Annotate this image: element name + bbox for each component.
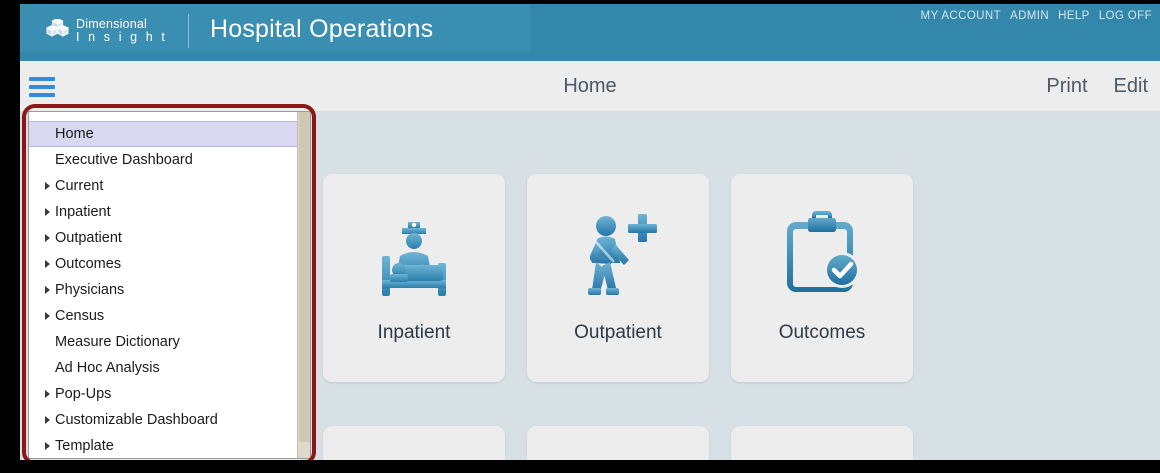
menu-item-outpatient[interactable]: Outpatient [29,225,299,251]
menu-item-label: Outpatient [55,230,122,246]
edit-button[interactable]: Edit [1114,61,1148,111]
tile-inpatient[interactable]: Inpatient [323,174,505,382]
print-button[interactable]: Print [1046,61,1087,111]
account-links: MY ACCOUNT ADMIN HELP LOG OFF [921,10,1152,22]
menu-item-list: Home Executive Dashboard Current Inpatie… [29,112,299,458]
walking-patient-with-sling-icon [527,196,709,316]
admin-link[interactable]: ADMIN [1010,10,1049,22]
tile-label: Outpatient [527,322,709,344]
my-account-link[interactable]: MY ACCOUNT [921,10,1001,22]
menu-item-executive-dashboard[interactable]: Executive Dashboard [29,147,299,173]
nav-actions: Print Edit [1046,61,1148,111]
chevron-right-icon [45,182,50,190]
tile-placeholder[interactable] [323,426,505,460]
tile-label: Inpatient [323,322,505,344]
chevron-right-icon [45,260,50,268]
chevron-right-icon [45,286,50,294]
brand-text: Dimensional I n s i g h t [76,18,167,44]
page-title: Home [20,61,1160,111]
header-divider [188,14,189,48]
menu-item-label: Measure Dictionary [55,334,180,350]
tile-outcomes[interactable]: Outcomes [731,174,913,382]
chevron-right-icon [45,312,50,320]
tile-placeholder[interactable] [527,426,709,460]
menu-item-ad-hoc-analysis[interactable]: Ad Hoc Analysis [29,355,299,381]
log-off-link[interactable]: LOG OFF [1099,10,1152,22]
patient-in-bed-with-nurse-icon [323,196,505,316]
app-header: Dimensional I n s i g h t Hospital Opera… [20,4,1160,61]
menu-item-inpatient[interactable]: Inpatient [29,199,299,225]
menu-item-label: Template [55,438,114,454]
tile-outpatient[interactable]: Outpatient [527,174,709,382]
chevron-right-icon [45,208,50,216]
clipboard-checkmark-icon [731,196,913,316]
cubes-icon [45,19,71,43]
menu-item-label: Physicians [55,282,124,298]
menu-item-current[interactable]: Current [29,173,299,199]
app-title: Hospital Operations [210,15,433,44]
brand-line-2: I n s i g h t [76,31,167,44]
menu-item-label: Census [55,308,104,324]
menu-item-customizable-dashboard[interactable]: Customizable Dashboard [29,407,299,433]
help-link[interactable]: HELP [1058,10,1090,22]
navigation-bar: Home Print Edit [20,61,1160,112]
menu-scrollbar-thumb[interactable] [299,112,310,442]
menu-item-label: Pop-Ups [55,386,111,402]
chevron-right-icon [45,416,50,424]
menu-item-label: Ad Hoc Analysis [55,360,160,376]
menu-item-label: Customizable Dashboard [55,412,218,428]
chevron-right-icon [45,234,50,242]
tile-label: Outcomes [731,322,913,344]
menu-item-measure-dictionary[interactable]: Measure Dictionary [29,329,299,355]
menu-item-template[interactable]: Template [29,433,299,459]
menu-item-label: Inpatient [55,204,111,220]
menu-item-census[interactable]: Census [29,303,299,329]
menu-item-label: Outcomes [55,256,121,272]
navigation-dropdown-menu: Home Executive Dashboard Current Inpatie… [28,111,311,459]
menu-item-home[interactable]: Home [29,121,299,147]
chevron-right-icon [45,442,50,450]
application-window: Dimensional I n s i g h t Hospital Opera… [20,4,1160,460]
menu-item-label: Home [55,126,94,142]
menu-item-pop-ups[interactable]: Pop-Ups [29,381,299,407]
chevron-right-icon [45,390,50,398]
tile-placeholder[interactable] [731,426,913,460]
dimensional-insight-logo[interactable]: Dimensional I n s i g h t [45,16,167,46]
menu-item-label: Executive Dashboard [55,152,193,168]
screen: Dimensional I n s i g h t Hospital Opera… [0,0,1160,473]
menu-item-outcomes[interactable]: Outcomes [29,251,299,277]
menu-scrollbar[interactable] [297,112,310,458]
menu-item-label: Current [55,178,103,194]
menu-item-physicians[interactable]: Physicians [29,277,299,303]
